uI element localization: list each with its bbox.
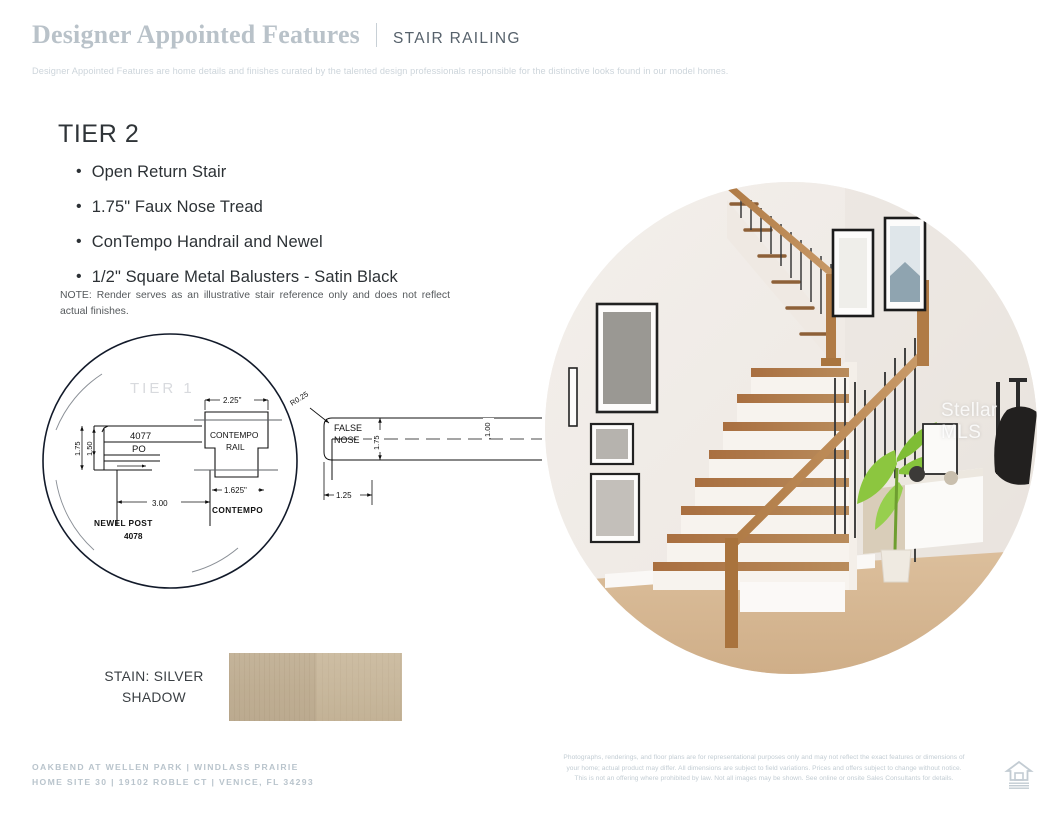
- feature-label: ConTempo Handrail and Newel: [92, 233, 323, 252]
- nose-radius-label: R0.25: [288, 389, 310, 407]
- equal-housing-opportunity-icon: [1004, 758, 1034, 790]
- feature-label: 1.75" Faux Nose Tread: [92, 198, 263, 217]
- footer-community: OAKBEND AT WELLEN PARK | WINDLASS PRAIRI…: [32, 760, 314, 790]
- page-header: Designer Appointed Features STAIR RAILIN…: [32, 22, 852, 76]
- stair-photo-svg: [545, 182, 1037, 674]
- rail-box-line2: RAIL: [226, 442, 245, 452]
- stain-label: STAIN: SILVER SHADOW: [84, 666, 224, 709]
- stain-swatch: [229, 653, 402, 721]
- disclaimer-line2: your home; actual product may differ. Al…: [525, 764, 1003, 775]
- list-item: • 1.75" Faux Nose Tread: [76, 198, 496, 217]
- nose-dim-height: 1.75: [372, 435, 381, 450]
- brochure-page: Designer Appointed Features STAIR RAILIN…: [0, 0, 1056, 816]
- brand-title: Designer Appointed Features: [32, 22, 360, 48]
- feature-label: Open Return Stair: [92, 163, 227, 182]
- bullet-icon: •: [76, 163, 82, 181]
- nose-box-line2: NOSE: [334, 435, 360, 445]
- stain-label-line2: SHADOW: [84, 687, 224, 708]
- list-item: • ConTempo Handrail and Newel: [76, 233, 496, 252]
- list-item: • 1/2" Square Metal Balusters - Satin Bl…: [76, 268, 496, 287]
- bullet-icon: •: [76, 268, 82, 286]
- rail-dim-top: 2.25": [223, 396, 242, 405]
- note-text: NOTE: Render serves as an illustrative s…: [60, 288, 450, 320]
- newel-dim-width: 3.00: [152, 499, 168, 508]
- diagram-faded-label: TIER 1: [130, 380, 195, 397]
- stain-swatch-left: [229, 653, 316, 721]
- feature-label: 1/2" Square Metal Balusters - Satin Blac…: [92, 268, 398, 287]
- newel-part-suffix: PO: [132, 444, 146, 455]
- nose-radius-leader: [310, 408, 329, 423]
- newel-post: [725, 538, 738, 648]
- bullet-icon: •: [76, 198, 82, 216]
- footer-community-line2: HOME SITE 30 | 19102 ROBLE CT | VENICE, …: [32, 775, 314, 790]
- section-title: STAIR RAILING: [393, 31, 521, 49]
- newel-caption-line1: NEWEL POST: [94, 518, 153, 528]
- header-divider: [376, 23, 377, 47]
- newel-part-number: 4077: [130, 431, 151, 442]
- header-title-row: Designer Appointed Features STAIR RAILIN…: [32, 22, 852, 48]
- rail-dim-bottom: 1.625": [224, 486, 247, 495]
- list-item: • Open Return Stair: [76, 163, 496, 182]
- rail-caption: CONTEMPO: [212, 505, 263, 515]
- nose-dim-depth: 1.25: [336, 491, 352, 500]
- newel-caption-line2: 4078: [124, 531, 143, 541]
- technical-diagram: TIER 1 1.75 1.50 4077: [42, 330, 562, 592]
- stain-swatch-right: [316, 653, 403, 721]
- tier-title: TIER 2: [58, 120, 139, 149]
- newel-dim-height-inner: 1.50: [85, 441, 94, 456]
- nose-box-line1: FALSE: [334, 423, 362, 433]
- feature-list: • Open Return Stair • 1.75" Faux Nose Tr…: [76, 163, 496, 303]
- disclaimer-line3: This is not an offering where prohibited…: [525, 774, 1003, 785]
- bullet-icon: •: [76, 233, 82, 251]
- rail-box-line1: CONTEMPO: [210, 430, 259, 440]
- newel-dim-height-outer: 1.75: [73, 441, 82, 456]
- disclaimer-line1: Photographs, renderings, and floor plans…: [525, 753, 1003, 764]
- header-description: Designer Appointed Features are home det…: [32, 66, 852, 76]
- footer-disclaimer: Photographs, renderings, and floor plans…: [525, 753, 1003, 785]
- footer-community-line1: OAKBEND AT WELLEN PARK | WINDLASS PRAIRI…: [32, 760, 314, 775]
- stain-label-line1: STAIN: SILVER: [84, 666, 224, 687]
- diagram-circle-frame: [43, 334, 297, 588]
- diagram-svg: TIER 1 1.75 1.50 4077: [42, 330, 562, 592]
- stair-photo: Stellar MLS: [545, 182, 1037, 674]
- nose-dim-thickness: 1.00: [483, 422, 492, 437]
